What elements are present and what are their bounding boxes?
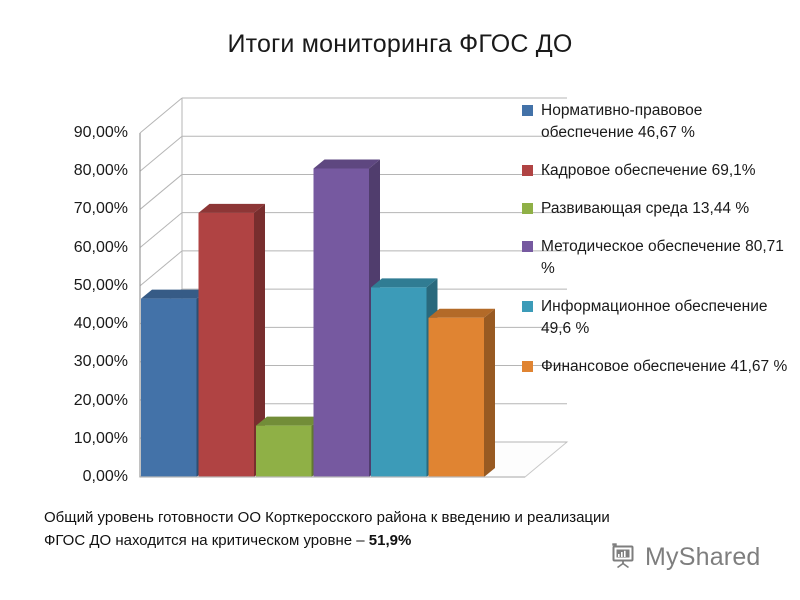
bar-4 [314, 160, 381, 477]
y-axis-tick-label: 70,00% [42, 200, 128, 218]
y-axis-tick-label: 80,00% [42, 162, 128, 180]
footer-highlight-value: 51,9% [369, 532, 412, 549]
legend-item-3[interactable]: Развивающая среда 13,44 % [522, 198, 794, 220]
legend-item-label: Методическое обеспечение 80,71 % [541, 236, 794, 280]
legend-item-label: Нормативно-правовое обеспечение 46,67 % [541, 100, 794, 144]
footer-line-1: Общий уровень готовности ОО Корткеросско… [44, 509, 610, 526]
y-axis-tick-label: 90,00% [42, 124, 128, 142]
y-axis-tick-label: 50,00% [42, 277, 128, 295]
myshared-watermark: MyShared [608, 540, 761, 575]
bar-2 [199, 204, 266, 477]
legend-swatch-icon [522, 361, 533, 372]
legend-item-1[interactable]: Нормативно-правовое обеспечение 46,67 % [522, 100, 794, 144]
bar-3 [256, 417, 323, 477]
legend-item-2[interactable]: Кадровое обеспечение 69,1% [522, 160, 794, 182]
y-axis-tick-label: 60,00% [42, 239, 128, 257]
legend-item-6[interactable]: Финансовое обеспечение 41,67 % [522, 356, 794, 378]
legend-swatch-icon [522, 105, 533, 116]
watermark-label: MyShared [645, 543, 761, 572]
legend-swatch-icon [522, 301, 533, 312]
legend-item-5[interactable]: Информационное обеспечение 49,6 % [522, 296, 794, 340]
legend-swatch-icon [522, 165, 533, 176]
legend-item-label: Развивающая среда 13,44 % [541, 198, 749, 220]
y-axis-tick-label: 30,00% [42, 353, 128, 371]
slide-canvas: Итоги мониторинга ФГОС ДО 0,00%10,00%20,… [0, 0, 800, 600]
legend-item-label: Информационное обеспечение 49,6 % [541, 296, 794, 340]
legend-swatch-icon [522, 203, 533, 214]
bar-5 [371, 278, 438, 477]
y-axis-tick-label: 10,00% [42, 430, 128, 448]
chart-legend: Нормативно-правовое обеспечение 46,67 %К… [522, 100, 794, 394]
legend-item-label: Финансовое обеспечение 41,67 % [541, 356, 787, 378]
bar-1 [141, 290, 208, 477]
legend-item-label: Кадровое обеспечение 69,1% [541, 160, 756, 182]
presentation-board-icon [608, 540, 638, 575]
y-axis-tick-label: 40,00% [42, 315, 128, 333]
legend-item-4[interactable]: Методическое обеспечение 80,71 % [522, 236, 794, 280]
legend-swatch-icon [522, 241, 533, 252]
y-axis-tick-label: 20,00% [42, 392, 128, 410]
footer-line-2-prefix: ФГОС ДО находится на критическом уровне … [44, 532, 369, 549]
y-axis-tick-label: 0,00% [42, 468, 128, 486]
bar-6 [429, 309, 496, 477]
